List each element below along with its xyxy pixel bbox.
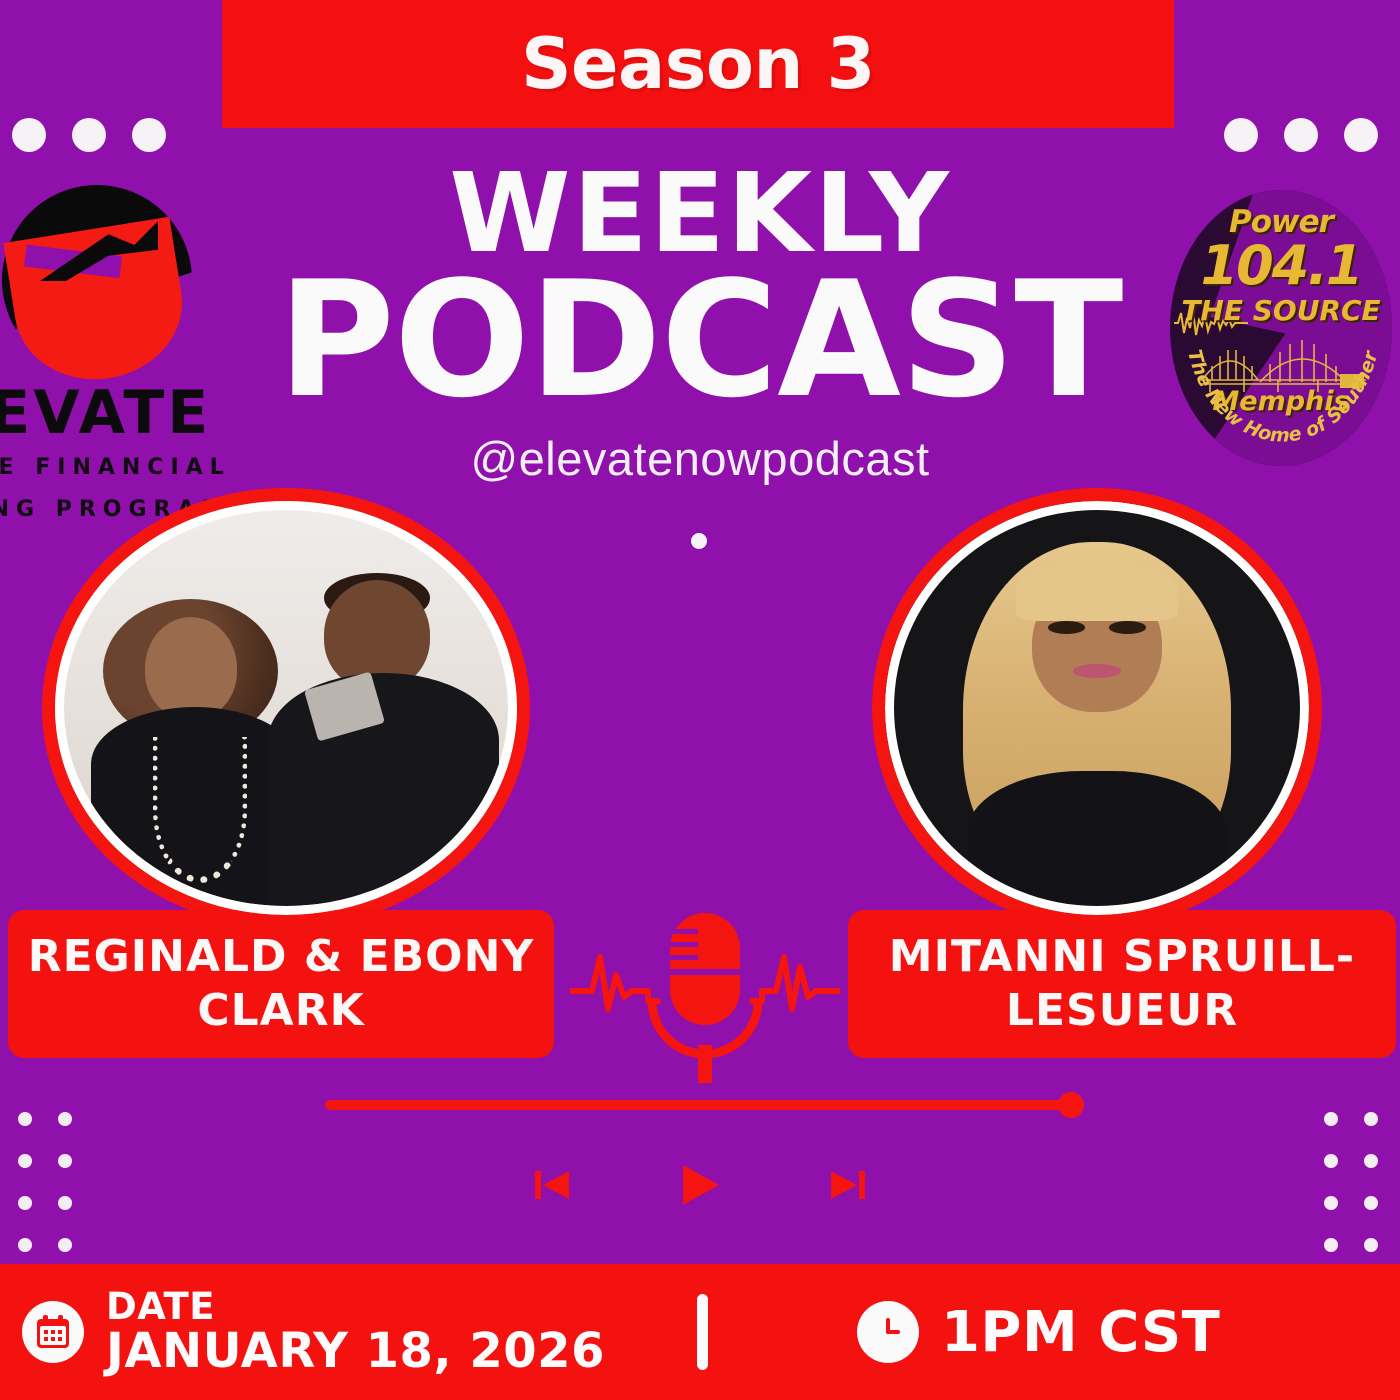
decor-dot bbox=[58, 1238, 72, 1252]
dot-grid-decoration-bottom-right bbox=[1324, 1112, 1378, 1252]
decor-dot bbox=[1324, 1154, 1338, 1168]
station-curved-tagline: The New Home of Southern Soul Blues bbox=[1170, 190, 1392, 466]
center-dot-decoration bbox=[691, 533, 707, 549]
decor-dot bbox=[18, 1196, 32, 1210]
photo-artwork bbox=[894, 510, 1300, 906]
event-date-text: DATE JANUARY 18, 2026 bbox=[106, 1287, 605, 1378]
microphone-waveform-group bbox=[570, 905, 840, 1095]
decor-dot bbox=[72, 118, 106, 152]
player-controls bbox=[525, 1155, 875, 1215]
season-banner: Season 3 bbox=[222, 0, 1174, 128]
decor-dot bbox=[58, 1154, 72, 1168]
podcast-promo-poster: Season 3 LEVATE NCE FINANCIAL NING PROGR… bbox=[0, 0, 1400, 1400]
season-label: Season 3 bbox=[521, 23, 875, 105]
person-figure bbox=[268, 573, 499, 906]
calendar-icon bbox=[22, 1301, 84, 1363]
decor-dot bbox=[1324, 1238, 1338, 1252]
play-button[interactable] bbox=[672, 1161, 728, 1209]
decor-dot bbox=[18, 1154, 32, 1168]
decor-dot bbox=[58, 1112, 72, 1126]
guest-name-label: MITANNI SPRUILL-LESUEUR bbox=[866, 930, 1378, 1037]
event-date-group: DATE JANUARY 18, 2026 bbox=[22, 1287, 605, 1378]
decor-dot bbox=[1324, 1196, 1338, 1210]
progress-bar[interactable] bbox=[325, 1100, 1075, 1110]
event-time-group: 1PM CST bbox=[857, 1300, 1220, 1365]
decor-dot bbox=[18, 1238, 32, 1252]
svg-text:The New Home of Southern Soul: The New Home of Southern Soul Blues bbox=[1170, 190, 1383, 447]
skip-next-button[interactable] bbox=[819, 1161, 875, 1209]
elevate-wordmark: LEVATE bbox=[0, 383, 270, 443]
decor-dot bbox=[58, 1196, 72, 1210]
station-curved-text: The New Home of Southern Soul Blues bbox=[1170, 190, 1383, 447]
progress-knob[interactable] bbox=[1058, 1092, 1084, 1118]
event-footer-bar: DATE JANUARY 18, 2026 1PM CST bbox=[0, 1264, 1400, 1400]
dot-triple-decoration-top-right bbox=[1224, 118, 1378, 152]
guest-photo-mitanni-spruill-lesueur bbox=[872, 488, 1322, 928]
decor-dot bbox=[1284, 118, 1318, 152]
skip-previous-button[interactable] bbox=[525, 1161, 581, 1209]
guest-nameplate-right: MITANNI SPRUILL-LESUEUR bbox=[848, 910, 1396, 1058]
microphone-icon bbox=[652, 913, 758, 1083]
dot-triple-decoration-top-left bbox=[12, 118, 166, 152]
decor-dot bbox=[1324, 1112, 1338, 1126]
decor-dot bbox=[1224, 118, 1258, 152]
elevate-brand-logo: LEVATE NCE FINANCIAL NING PROGRAM bbox=[0, 185, 270, 505]
play-icon bbox=[675, 1161, 725, 1209]
power-1041-station-logo: Power 104.1 THE SOURCE bbox=[1170, 190, 1392, 466]
photo-artwork bbox=[64, 510, 508, 906]
clock-icon bbox=[857, 1301, 919, 1363]
guest-photo-reginald-ebony-clark bbox=[42, 488, 530, 928]
decor-dot bbox=[1364, 1154, 1378, 1168]
time-value: 1PM CST bbox=[941, 1300, 1220, 1365]
date-label: DATE bbox=[106, 1287, 605, 1327]
decor-dot bbox=[1344, 118, 1378, 152]
date-value: JANUARY 18, 2026 bbox=[106, 1326, 605, 1377]
guest-name-label: REGINALD & EBONY CLARK bbox=[26, 930, 536, 1037]
elevate-arrow-mark-icon bbox=[2, 185, 192, 375]
decor-dot bbox=[132, 118, 166, 152]
skip-previous-icon bbox=[531, 1165, 575, 1205]
decor-dot bbox=[1364, 1112, 1378, 1126]
footer-divider bbox=[697, 1294, 708, 1370]
skip-next-icon bbox=[825, 1165, 869, 1205]
decor-dot bbox=[1364, 1238, 1378, 1252]
dot-grid-decoration-bottom-left bbox=[18, 1112, 72, 1252]
guest-nameplate-left: REGINALD & EBONY CLARK bbox=[8, 910, 554, 1058]
decor-dot bbox=[1364, 1196, 1378, 1210]
decor-dot bbox=[18, 1112, 32, 1126]
elevate-tagline-line1: NCE FINANCIAL bbox=[0, 451, 270, 485]
decor-dot bbox=[12, 118, 46, 152]
